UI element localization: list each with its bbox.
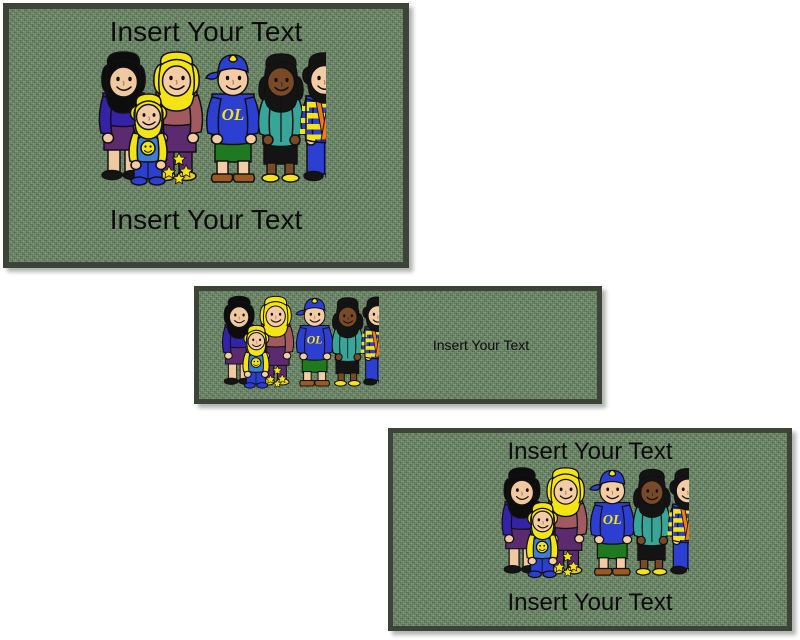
svg-text:OL: OL [222,105,245,124]
six-children-clipart: OL [86,50,326,195]
six-children-clipart [491,466,689,586]
clipart-container [213,295,379,395]
card-caption-bottom: Insert Your Text [393,590,787,615]
clipart-container: OL [9,50,403,195]
large-green-card[interactable]: Insert Your Text [3,3,409,268]
card-caption-top: Insert Your Text [9,17,403,46]
green-banner-card[interactable]: Insert Your Text [194,286,602,404]
card-caption-top: Insert Your Text [393,439,787,464]
card-caption-right: Insert Your Text [383,338,579,353]
medium-green-card[interactable]: Insert Your Text Insert Your Text [388,428,792,631]
six-children-clipart [213,295,379,395]
card-caption-bottom: Insert Your Text [9,205,403,234]
clipart-container [393,466,787,586]
